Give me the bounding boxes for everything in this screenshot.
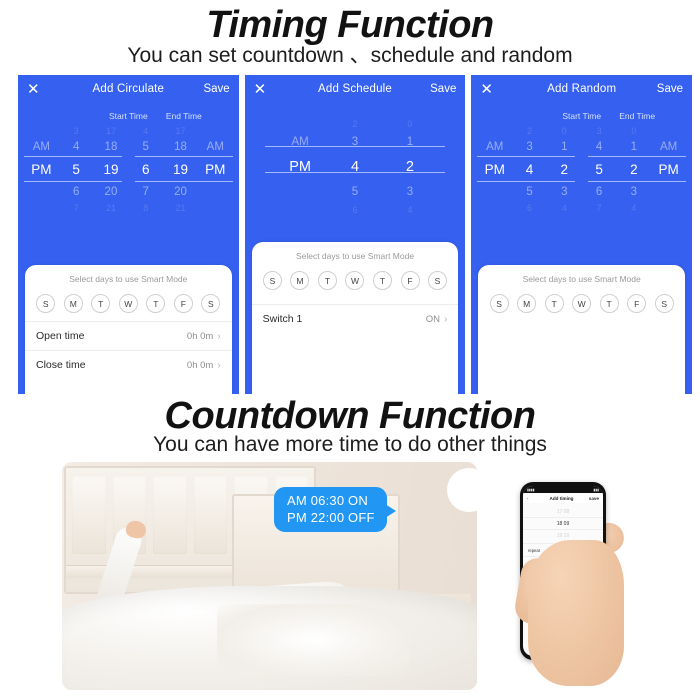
cell: 4 — [616, 203, 651, 213]
cell: 2 — [382, 159, 437, 175]
phone-app-title: Add timing — [536, 496, 587, 501]
picker-row[interactable]: AM 3 1 4 1 AM — [477, 137, 686, 156]
cell: AM — [273, 136, 328, 148]
duvet — [62, 586, 477, 690]
cell: 3 — [582, 126, 617, 136]
picker-row[interactable]: 2 0 3 0 — [477, 124, 686, 137]
day-toggle[interactable]: S — [201, 294, 220, 313]
cell: 5 — [59, 162, 94, 177]
list-item-label: Close time — [36, 359, 187, 371]
cell: 3 — [616, 186, 651, 198]
panel-title: Add Circulate — [61, 83, 196, 95]
day-toggle[interactable]: T — [600, 294, 619, 313]
cell: 3 — [59, 126, 94, 136]
hand-holding-phone: ▮▮▮▮ ▮▮▮ ‹ Add timing save 17 08 18 09 1… — [490, 462, 640, 690]
cell: 18 — [94, 141, 129, 153]
phone-time-row: 17 08 — [523, 506, 603, 517]
day-selector[interactable]: S M T W T F S — [252, 263, 459, 298]
day-toggle[interactable]: F — [174, 294, 193, 313]
panel-titlebar: ✕ Add Circulate Save — [18, 75, 239, 103]
chevron-right-icon: › — [444, 314, 447, 325]
list-item-label: Open time — [36, 330, 187, 342]
picker-row[interactable]: 6 20 7 20 — [24, 182, 233, 201]
cell: AM — [24, 141, 59, 153]
cell: 21 — [94, 203, 129, 213]
day-toggle[interactable]: T — [91, 294, 110, 313]
panels-row: ✕ Add Circulate Save Start Time End Time… — [18, 75, 692, 394]
cell: 1 — [547, 141, 582, 153]
cell: AM — [198, 141, 233, 153]
back-icon[interactable]: ‹ — [527, 496, 536, 501]
save-button[interactable]: Save — [196, 83, 230, 95]
picker-row[interactable]: 2 0 — [273, 117, 438, 130]
bubble-line-off: PM 22:00 OFF — [287, 509, 375, 526]
cell: 2 — [328, 119, 383, 129]
cell: 4 — [582, 141, 617, 153]
list-item-switch-1[interactable]: Switch 1 ON › — [252, 304, 459, 333]
start-time-label: Start Time — [544, 111, 619, 121]
status-left: ▮▮▮▮ — [527, 488, 534, 492]
picker-row[interactable]: 7 21 8 21 — [24, 201, 233, 214]
page-title-timing: Timing Function — [0, 6, 700, 44]
panel-add-circulate: ✕ Add Circulate Save Start Time End Time… — [18, 75, 239, 394]
cell: PM — [198, 162, 233, 177]
cell: 21 — [163, 203, 198, 213]
cell: 4 — [512, 162, 547, 177]
status-right: ▮▮▮ — [593, 488, 599, 492]
time-picker[interactable]: 2 0 AM 3 1 PM 4 2 5 3 — [245, 117, 466, 216]
cell: AM — [477, 141, 512, 153]
cell: 6 — [328, 205, 383, 215]
cell: 5 — [582, 162, 617, 177]
day-selector[interactable]: S M T W T F S — [478, 286, 685, 321]
start-time-label: Start Time — [91, 111, 166, 121]
cell: AM — [651, 141, 686, 153]
cell: 6 — [582, 186, 617, 198]
cell: 20 — [94, 186, 129, 198]
day-selector[interactable]: S M T W T F S — [25, 286, 232, 321]
cell: 4 — [59, 141, 94, 153]
cell: 6 — [512, 203, 547, 213]
picker-row[interactable]: 6 4 — [273, 203, 438, 216]
cell: 2 — [616, 162, 651, 177]
picker-row[interactable]: AM 3 1 — [273, 130, 438, 153]
phone-time-picker[interactable]: 17 08 18 09 19 10 — [523, 503, 603, 543]
day-toggle[interactable]: W — [119, 294, 138, 313]
cell: 18 — [163, 141, 198, 153]
cell: PM — [651, 162, 686, 177]
picker-row-selected[interactable]: PM 4 2 — [273, 153, 438, 180]
cell: 3 — [512, 141, 547, 153]
cell: 3 — [382, 186, 437, 198]
save-button[interactable]: Save — [422, 83, 456, 95]
panel-title: Add Random — [514, 83, 649, 95]
day-toggle[interactable]: M — [64, 294, 83, 313]
cell: 2 — [512, 126, 547, 136]
time-picker[interactable]: 2 0 3 0 AM 3 1 4 1 AM PM 4 2 — [471, 124, 692, 214]
save-button[interactable]: Save — [649, 83, 683, 95]
picker-row[interactable]: 6 4 7 4 — [477, 201, 686, 214]
panel-add-schedule: ✕ Add Schedule Save 2 0 AM 3 1 PM 4 — [245, 75, 466, 394]
day-toggle[interactable]: S — [490, 294, 509, 313]
cell: 20 — [163, 186, 198, 198]
phone-status-bar: ▮▮▮▮ ▮▮▮ — [523, 486, 603, 493]
cell: 4 — [382, 205, 437, 215]
phone-app-bar: ‹ Add timing save — [523, 493, 603, 503]
picker-row-selected[interactable]: PM 4 2 5 2 PM — [477, 156, 686, 182]
card-header: Select days to use Smart Mode — [25, 265, 232, 286]
close-icon[interactable]: ✕ — [480, 82, 514, 97]
smart-mode-card: Select days to use Smart Mode S M T W T … — [25, 265, 232, 394]
panel-title: Add Schedule — [288, 83, 423, 95]
schedule-speech-bubble: AM 06:30 ON PM 22:00 OFF — [274, 487, 387, 532]
cell: 6 — [128, 162, 163, 177]
cell: PM — [477, 162, 512, 177]
cell: 5 — [328, 186, 383, 198]
cell: 3 — [328, 136, 383, 148]
panel-titlebar: ✕ Add Schedule Save — [245, 75, 466, 103]
day-toggle[interactable]: T — [545, 294, 564, 313]
cell: 2 — [547, 162, 582, 177]
day-toggle[interactable]: S — [36, 294, 55, 313]
wheel-headers: Start Time End Time — [18, 111, 239, 121]
cell: 7 — [59, 203, 94, 213]
list-item-value: ON — [426, 314, 440, 325]
cell: 1 — [382, 136, 437, 148]
end-time-label: End Time — [619, 111, 692, 121]
day-toggle[interactable]: T — [318, 271, 337, 290]
picker-row[interactable]: 5 3 6 3 — [477, 182, 686, 201]
picker-row[interactable]: 5 3 — [273, 180, 438, 203]
day-toggle[interactable]: M — [517, 294, 536, 313]
list-item-label: Switch 1 — [263, 313, 426, 325]
bubble-line-on: AM 06:30 ON — [287, 492, 375, 509]
card-header: Select days to use Smart Mode — [478, 265, 685, 286]
day-toggle[interactable]: S — [428, 271, 447, 290]
smart-mode-card: Select days to use Smart Mode S M T W T … — [478, 265, 685, 394]
cell: 4 — [328, 159, 383, 175]
page-title-countdown: Countdown Function — [0, 397, 700, 435]
cell: 8 — [128, 203, 163, 213]
phone-save-button[interactable]: save — [587, 496, 599, 501]
list-item-close-time[interactable]: Close time 0h 0m › — [25, 350, 232, 379]
cell: 4 — [128, 126, 163, 136]
panel-titlebar: ✕ Add Random Save — [471, 75, 692, 103]
hand-palm — [528, 540, 624, 686]
time-picker[interactable]: 3 17 4 17 AM 4 18 5 18 AM PM 5 19 — [18, 124, 239, 214]
cell: 3 — [547, 186, 582, 198]
page-root: Timing Function You can set countdown 、s… — [0, 0, 700, 700]
cell: 0 — [547, 126, 582, 136]
chevron-right-icon: › — [217, 360, 220, 371]
day-toggle[interactable]: M — [290, 271, 309, 290]
picker-row-selected[interactable]: PM 5 19 6 19 PM — [24, 156, 233, 182]
day-toggle[interactable]: W — [572, 294, 591, 313]
list-item-open-time[interactable]: Open time 0h 0m › — [25, 321, 232, 350]
panel-add-random: ✕ Add Random Save Start Time End Time 2 … — [471, 75, 692, 394]
picker-row[interactable]: AM 4 18 5 18 AM — [24, 137, 233, 156]
cell: 7 — [582, 203, 617, 213]
chevron-right-icon: › — [217, 331, 220, 342]
card-header: Select days to use Smart Mode — [252, 242, 459, 263]
smart-mode-card: Select days to use Smart Mode S M T W T … — [252, 242, 459, 394]
cell: 5 — [512, 186, 547, 198]
picker-row[interactable]: 3 17 4 17 — [24, 124, 233, 137]
cell: 17 — [163, 126, 198, 136]
close-icon[interactable]: ✕ — [27, 82, 61, 97]
cell: PM — [24, 162, 59, 177]
day-toggle[interactable]: F — [401, 271, 420, 290]
cell: 19 — [163, 162, 198, 177]
phone-time-row-selected: 18 09 — [523, 517, 603, 530]
lifestyle-photo — [62, 462, 477, 690]
cell: 4 — [547, 203, 582, 213]
cell: 17 — [94, 126, 129, 136]
page-subtitle-timing: You can set countdown 、schedule and rand… — [0, 45, 700, 66]
cell: 0 — [382, 119, 437, 129]
day-toggle[interactable]: F — [627, 294, 646, 313]
close-icon[interactable]: ✕ — [254, 82, 288, 97]
cell: PM — [273, 159, 328, 175]
day-toggle[interactable]: T — [146, 294, 165, 313]
cell: 0 — [616, 126, 651, 136]
end-time-label: End Time — [166, 111, 239, 121]
cell: 7 — [128, 186, 163, 198]
page-subtitle-countdown: You can have more time to do other thing… — [0, 434, 700, 455]
cell: 1 — [616, 141, 651, 153]
cell: 6 — [59, 186, 94, 198]
cell: 19 — [94, 162, 129, 177]
list-item-value: 0h 0m — [187, 331, 213, 342]
day-toggle[interactable]: W — [345, 271, 364, 290]
cell: 5 — [128, 141, 163, 153]
day-toggle[interactable]: T — [373, 271, 392, 290]
list-item-value: 0h 0m — [187, 360, 213, 371]
day-toggle[interactable]: S — [263, 271, 282, 290]
day-toggle[interactable]: S — [655, 294, 674, 313]
wheel-headers: Start Time End Time — [471, 111, 692, 121]
